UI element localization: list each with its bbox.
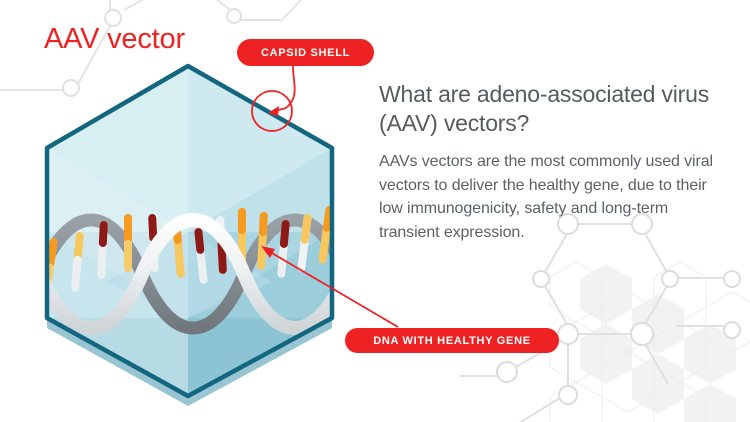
- text-column: What are adeno-associated virus (AAV) ve…: [379, 80, 731, 244]
- callout-badge-dna-healthy-gene[interactable]: DNA WITH HEALTHY GENE: [345, 328, 559, 353]
- page-title: AAV vector: [44, 22, 185, 56]
- callout-badge-capsid-shell[interactable]: CAPSID SHELL: [237, 39, 374, 66]
- infographic-canvas: AAV vector: [0, 0, 750, 422]
- body-copy: AAVs vectors are the most commonly used …: [379, 150, 731, 244]
- aav-capsid-illustration: [36, 56, 346, 406]
- capsid-facets: [47, 66, 332, 406]
- headline: What are adeno-associated virus (AAV) ve…: [379, 80, 731, 138]
